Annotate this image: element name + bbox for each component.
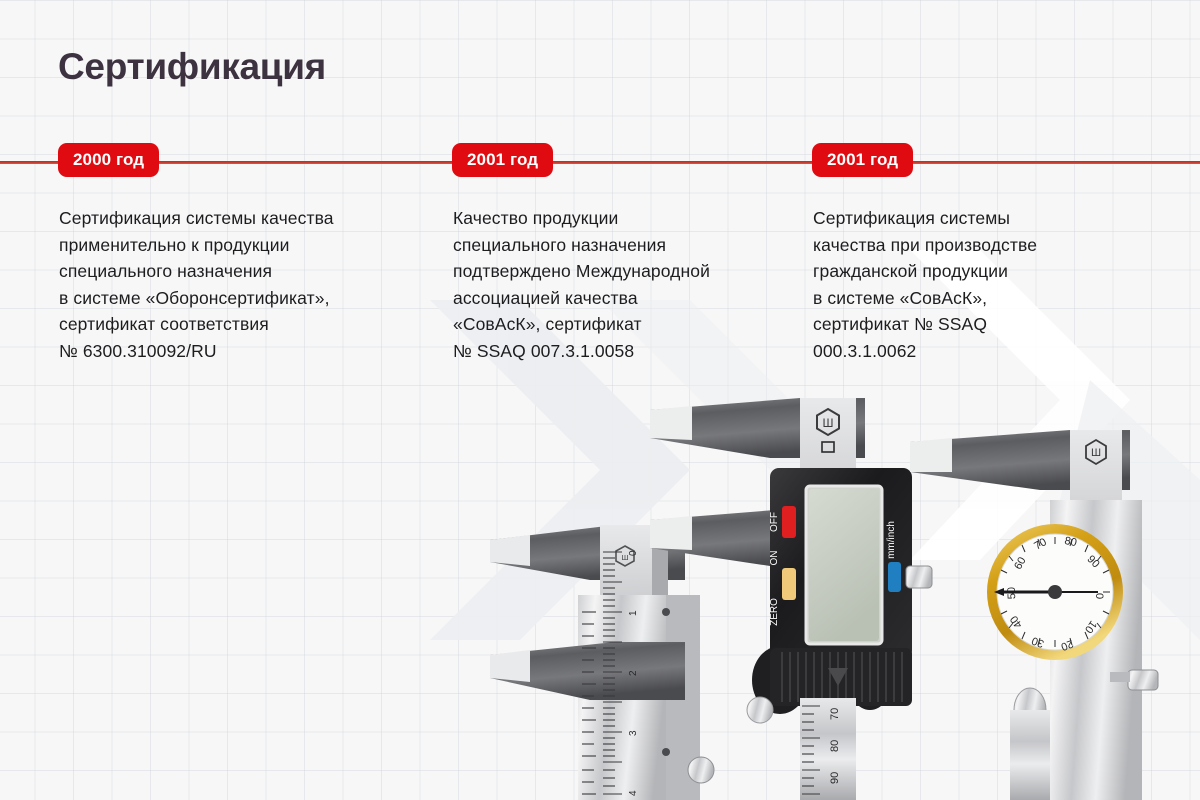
svg-text:80: 80: [829, 740, 841, 752]
svg-text:4: 4: [628, 790, 639, 796]
svg-text:1: 1: [628, 610, 639, 616]
certification-text: Сертификация системы качества при произв…: [813, 205, 1037, 364]
slide-root: Сертификация 2000 год Сертификация систе…: [0, 0, 1200, 800]
zero-label: ZERO: [769, 598, 780, 626]
year-badge[interactable]: 2000 год: [58, 143, 159, 177]
svg-text:3: 3: [628, 730, 639, 736]
certification-text: Качество продукции специального назначен…: [453, 205, 710, 364]
svg-text:Ш: Ш: [1091, 447, 1101, 459]
off-label: OFF: [769, 512, 780, 532]
mm-inch-label: mm/inch: [886, 521, 897, 559]
on-label: ON: [769, 551, 780, 566]
svg-text:Ш: Ш: [823, 416, 834, 430]
timeline: 2000 год Сертификация системы качества п…: [0, 0, 1200, 400]
svg-text:70: 70: [829, 708, 841, 720]
svg-text:90: 90: [829, 772, 841, 784]
svg-text:ш: ш: [621, 552, 628, 562]
year-badge[interactable]: 2001 год: [452, 143, 553, 177]
year-badge[interactable]: 2001 год: [812, 143, 913, 177]
certification-text: Сертификация системы качества применител…: [59, 205, 334, 364]
calipers-photo: 0 1 2 3 4 ш: [470, 380, 1200, 800]
svg-text:0: 0: [1093, 593, 1105, 599]
svg-text:2: 2: [628, 670, 639, 676]
dial-caliper: Ш: [910, 430, 1158, 800]
vernier-caliper: 0 1 2 3 4 ш: [490, 525, 714, 800]
svg-text:80: 80: [1063, 535, 1077, 549]
